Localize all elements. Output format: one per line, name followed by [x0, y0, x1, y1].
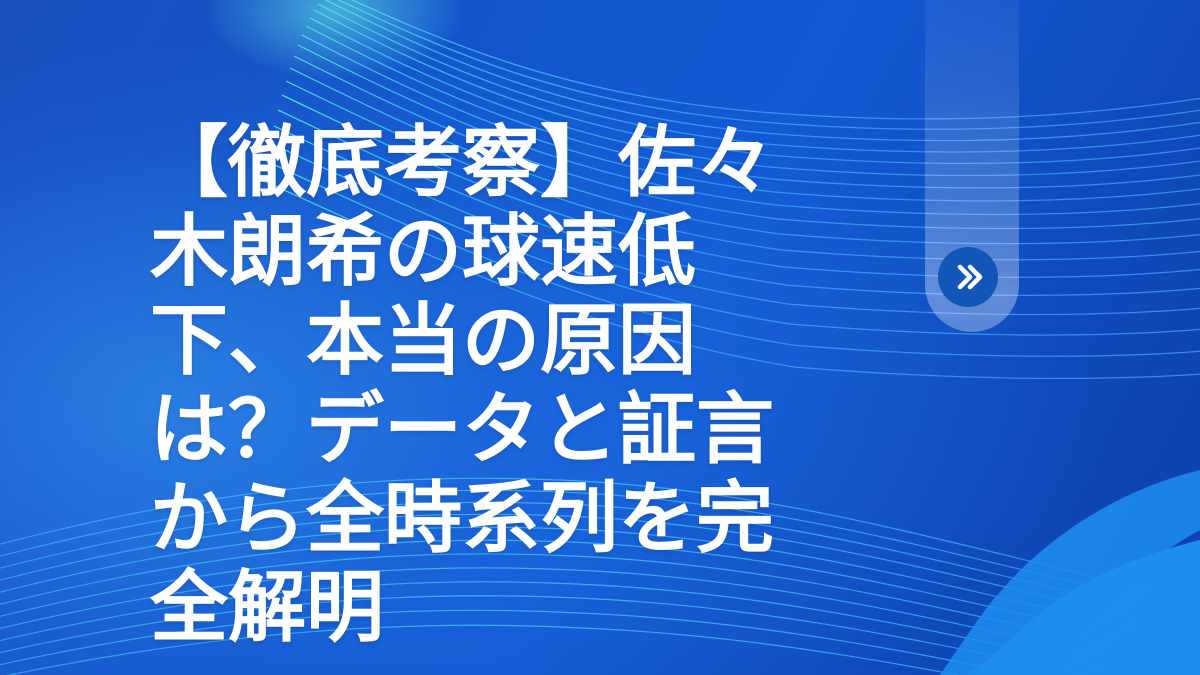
double-chevron-right-icon[interactable] — [938, 247, 998, 307]
slide-canvas: 【徹底考察】佐々木朗希の球速低下、本当の原因は？データと証言から全時系列を完全解… — [0, 0, 1200, 675]
accent-swoosh — [960, 540, 1200, 675]
accent-swoosh-secondary — [938, 470, 1200, 675]
page-title: 【徹底考察】佐々木朗希の球速低下、本当の原因は？データと証言から全時系列を完全解… — [150, 118, 810, 652]
page-title-text: 【徹底考察】佐々木朗希の球速低下、本当の原因は？データと証言から全時系列を完全解… — [150, 118, 810, 652]
